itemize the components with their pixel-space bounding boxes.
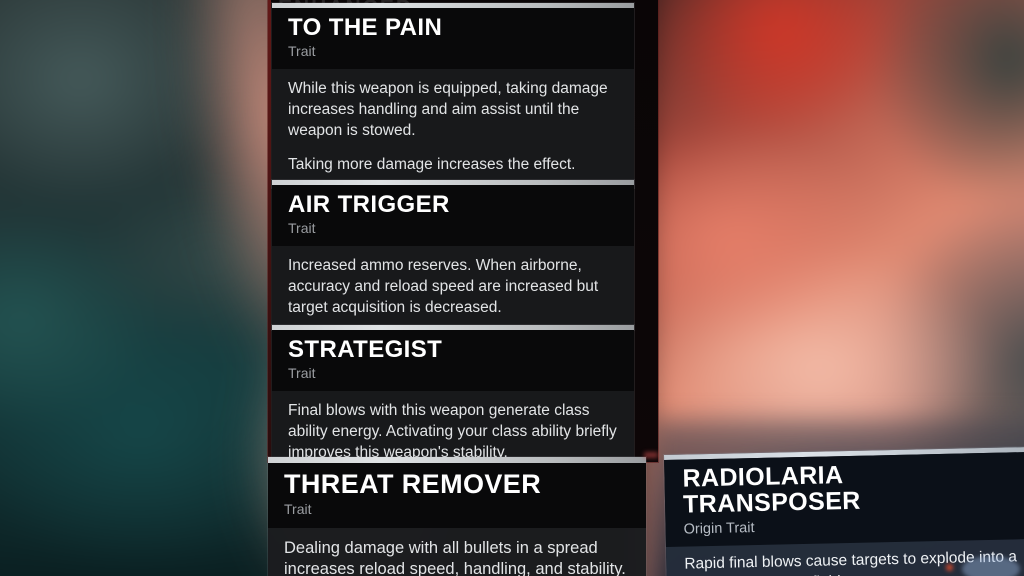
origin-trait-description-paragraph: Rapid final blows cause targets to explo… bbox=[684, 548, 1021, 576]
trait-description-paragraph: Dealing damage with all bullets in a spr… bbox=[284, 538, 630, 576]
card-description: Dealing damage with all bullets in a spr… bbox=[268, 528, 646, 576]
trait-card-to-the-pain[interactable]: TO THE PAIN Trait While this weapon is e… bbox=[272, 3, 634, 188]
trait-subtitle: Trait bbox=[284, 500, 630, 518]
origin-trait-card-radiolaria-transposer[interactable]: RADIOLARIA TRANSPOSER Origin Trait Rapid… bbox=[664, 447, 1024, 576]
trait-card-threat-remover[interactable]: THREAT REMOVER Trait Dealing damage with… bbox=[268, 457, 646, 576]
trait-title: AIR TRIGGER bbox=[288, 192, 618, 217]
trait-description-paragraph: Increased ammo reserves. When airborne, … bbox=[288, 256, 618, 318]
trait-description-paragraph: While this weapon is equipped, taking da… bbox=[288, 79, 618, 141]
trait-title: STRATEGIST bbox=[288, 337, 618, 362]
trait-subtitle: Trait bbox=[288, 364, 618, 382]
trait-subtitle: Trait bbox=[288, 219, 618, 237]
trait-title: THREAT REMOVER bbox=[284, 470, 630, 498]
origin-trait-title: RADIOLARIA TRANSPOSER bbox=[682, 458, 1019, 518]
trait-card-strategist[interactable]: STRATEGIST Trait Final blows with this w… bbox=[272, 325, 634, 475]
card-header: STRATEGIST Trait bbox=[272, 330, 634, 391]
card-description: While this weapon is equipped, taking da… bbox=[272, 69, 634, 187]
card-header: AIR TRIGGER Trait bbox=[272, 185, 634, 246]
card-description: Increased ammo reserves. When airborne, … bbox=[272, 246, 634, 330]
trait-description-paragraph: Taking more damage increases the effect. bbox=[288, 155, 618, 176]
trait-card-air-trigger[interactable]: AIR TRIGGER Trait Increased ammo reserve… bbox=[272, 180, 634, 330]
trait-title: TO THE PAIN bbox=[288, 15, 618, 40]
card-header: RADIOLARIA TRANSPOSER Origin Trait bbox=[664, 452, 1024, 547]
trait-description-paragraph: Final blows with this weapon generate cl… bbox=[288, 401, 618, 463]
card-header: THREAT REMOVER Trait bbox=[268, 463, 646, 528]
card-header: TO THE PAIN Trait bbox=[272, 8, 634, 69]
screenshot-root: ENHANCED TO THE PAIN Trait While this we… bbox=[0, 0, 1024, 576]
trait-subtitle: Trait bbox=[288, 42, 618, 60]
